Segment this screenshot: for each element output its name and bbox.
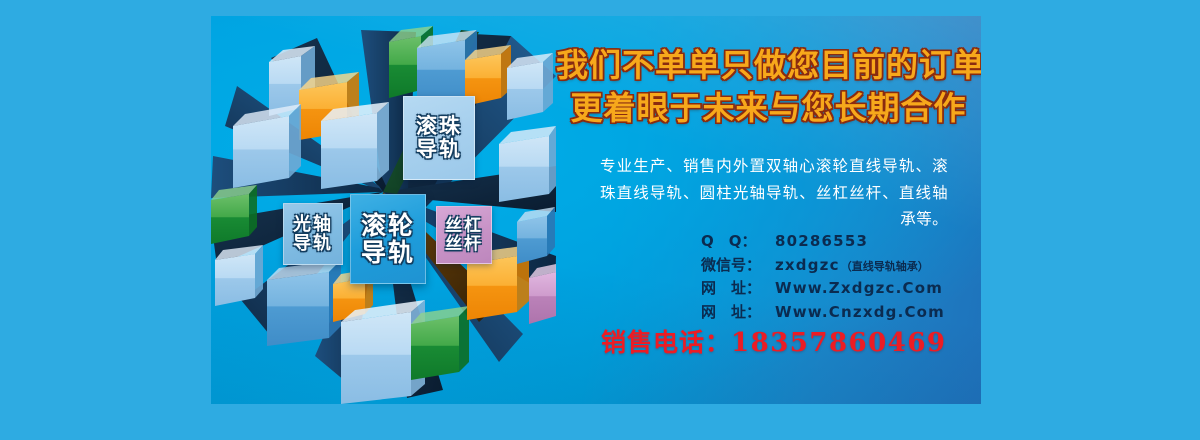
contact-row-qq: Q Q： 80286553 [701,231,981,252]
headline-line-2: 更着眼于未来与您长期合作 [556,87,981,130]
banner-headline: 我们不单单只做您目前的订单 更着眼于未来与您长期合作 [556,44,981,130]
cube-label-gunlun-daogui: 滚轮 导轨 [350,194,426,284]
contact-note-wechat: （直线导轨轴承） [841,259,929,274]
cube-label-gunzhu-daogui: 滚珠 导轨 [403,96,475,180]
cube-label-line: 光轴 [293,215,333,234]
contact-value-wechat: zxdgzc [775,255,840,276]
contact-row-website-1[interactable]: 网 址： Www.Zxdgzc.Com [701,278,981,299]
contact-label: 网 址： [701,278,775,299]
contact-label: 微信号： [701,255,775,276]
cube-label-line: 滚轮 [361,212,415,239]
banner-intro-text: 专业生产、销售内外置双轴心滚轮直线导轨、滚珠直线导轨、圆柱光轴导轨、丝杠丝杆、直… [600,153,948,233]
promo-banner: 滚珠 导轨 光轴 导轨 滚轮 导轨 丝杠 丝杆 我们不单单只做您目前的订单 更着… [211,16,981,404]
cube-label-line: 丝杆 [445,235,483,253]
cube-label-line: 丝杠 [445,217,483,235]
contact-value-website-2[interactable]: Www.Cnzxdg.Com [775,302,945,323]
cube-label-line: 导轨 [416,138,462,161]
page-root: 滚珠 导轨 光轴 导轨 滚轮 导轨 丝杠 丝杆 我们不单单只做您目前的订单 更着… [0,0,1200,440]
sales-phone-label: 销售电话： [601,328,731,357]
cube-label-sigang-sigan: 丝杠 丝杆 [436,206,492,264]
cube-label-line: 导轨 [361,239,415,266]
cube-label-line: 导轨 [293,234,333,253]
contact-label: Q Q： [701,231,775,252]
contact-row-wechat: 微信号： zxdgzc （直线导轨轴承） [701,255,981,276]
sales-phone-block: 销售电话：18357860469 [601,323,981,359]
sales-phone-number[interactable]: 18357860469 [731,328,947,358]
contact-value-qq: 80286553 [775,231,868,252]
contact-label: 网 址： [701,302,775,323]
headline-line-1: 我们不单单只做您目前的订单 [556,44,981,87]
contact-value-website-1[interactable]: Www.Zxdgzc.Com [775,278,943,299]
contact-row-website-2[interactable]: 网 址： Www.Cnzxdg.Com [701,302,981,323]
banner-text-column: 我们不单单只做您目前的订单 更着眼于未来与您长期合作 专业生产、销售内外置双轴心… [556,16,981,404]
contact-info-block: Q Q： 80286553 微信号： zxdgzc （直线导轨轴承） 网 址： … [701,231,981,326]
cube-label-line: 滚珠 [416,115,462,138]
cube-label-guangzhou-daogui: 光轴 导轨 [283,203,343,265]
